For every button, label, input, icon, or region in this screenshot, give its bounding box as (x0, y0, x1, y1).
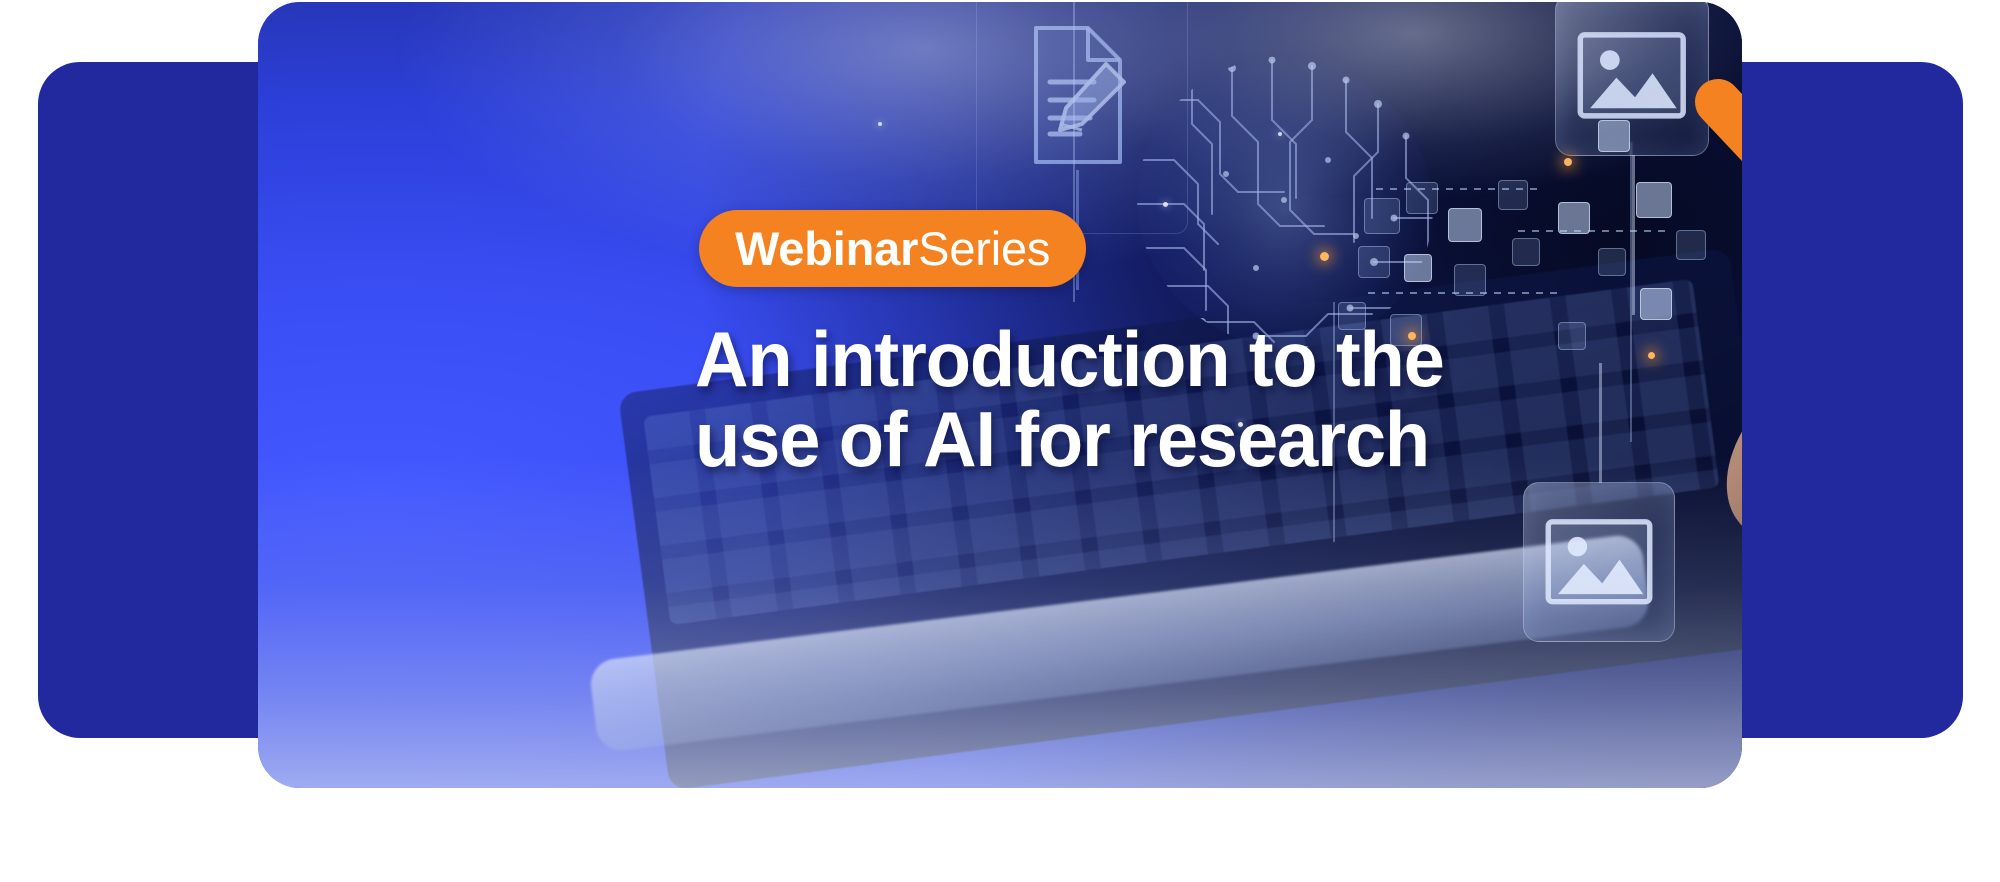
banner-stage: WebinarSeries An introduction to the use… (0, 0, 2000, 882)
headline-line-1: An introduction to the (695, 320, 1474, 400)
page-title: An introduction to the use of AI for res… (695, 320, 1474, 479)
badge-light-text: Series (918, 225, 1050, 272)
double-checkmark-logo (1686, 2, 1742, 199)
headline-line-2: use of AI for research (695, 400, 1474, 480)
hero-photo-card: WebinarSeries An introduction to the use… (258, 2, 1742, 788)
badge-strong-text: Webinar (735, 225, 918, 272)
webinar-series-badge[interactable]: WebinarSeries (699, 210, 1086, 287)
